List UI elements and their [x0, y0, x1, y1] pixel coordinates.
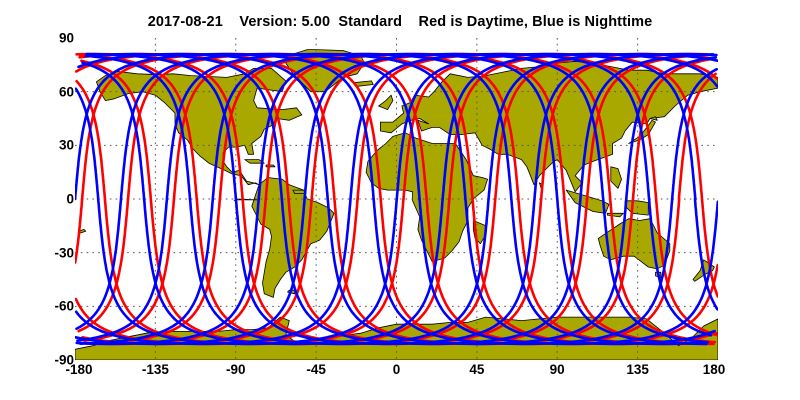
x-tick-45: 45	[442, 362, 512, 377]
y-tick-60: 60	[14, 84, 74, 99]
y-tick-m30: -30	[14, 245, 74, 260]
plot-area	[75, 38, 718, 360]
landmass-polygon	[266, 165, 275, 167]
x-tick-0: 0	[362, 362, 432, 377]
ground-track-canvas	[75, 38, 718, 360]
ground-track-map-figure: 2017-08-21 Version: 5.00 Standard Red is…	[0, 0, 800, 400]
y-tick-0: 0	[14, 192, 74, 207]
figure-title: 2017-08-21 Version: 5.00 Standard Red is…	[0, 14, 800, 30]
landmass-polygon	[293, 190, 306, 194]
x-tick-m45: -45	[281, 362, 351, 377]
x-tick-m135: -135	[120, 362, 190, 377]
x-tick-135: 135	[603, 362, 673, 377]
y-tick-30: 30	[14, 138, 74, 153]
x-tick-180: 180	[679, 362, 749, 377]
x-tick-m90: -90	[201, 362, 271, 377]
x-tick-90: 90	[522, 362, 592, 377]
y-tick-90: 90	[14, 31, 74, 46]
y-tick-m60: -60	[14, 299, 74, 314]
x-tick-m180: -180	[44, 362, 114, 377]
